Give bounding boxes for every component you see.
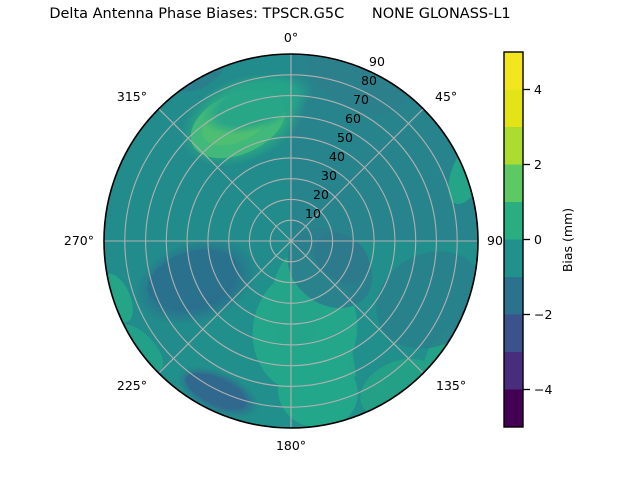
polar-plot: 0° 45° 90 135° 180° 225° 270° 315° 10 20… [0,0,640,480]
colorbar-band-8 [504,90,523,128]
r-label-40: 40 [329,149,345,164]
colorbar-band-5 [504,202,523,240]
colorbar-bands [504,52,523,427]
r-label-20: 20 [313,187,329,202]
r-label-30: 30 [321,168,337,183]
r-label-60: 60 [345,111,361,126]
colorbar-band-6 [504,165,523,203]
theta-label-135: 135° [436,378,466,393]
colorbar-tick-labels: −4 −2 0 2 4 [534,82,552,397]
r-label-70: 70 [353,92,369,107]
theta-label-315: 315° [117,89,147,104]
polar-grid [104,54,478,428]
colorbar-ticklabel-0: 0 [534,232,542,247]
colorbar-band-7 [504,127,523,165]
colorbar-ticks [523,90,530,390]
r-label-80: 80 [361,73,377,88]
colorbar-ticklabel-minus2: −2 [534,307,552,322]
theta-label-90: 90 [487,233,503,248]
colorbar-ticklabel-2: 2 [534,157,542,172]
figure-canvas: Delta Antenna Phase Biases: TPSCR.G5C NO… [0,0,640,480]
colorbar-band-9 [504,52,523,90]
r-label-50: 50 [337,130,353,145]
r-label-90: 90 [369,54,385,69]
colorbar-ticklabel-minus4: −4 [534,382,552,397]
colorbar-band-3 [504,277,523,315]
colorbar-band-4 [504,240,523,278]
colorbar-band-2 [504,315,523,353]
theta-label-0: 0° [284,30,298,45]
theta-label-45: 45° [435,89,457,104]
colorbar-band-1 [504,352,523,390]
colorbar-ticklabel-4: 4 [534,82,542,97]
theta-label-225: 225° [117,378,147,393]
colorbar-axis-title: Bias (mm) [560,208,575,272]
theta-label-180: 180° [276,438,306,453]
colorbar-band-0 [504,390,523,428]
theta-label-270: 270° [64,233,94,248]
colorbar[interactable]: −4 −2 0 2 4 Bias (mm) [504,52,575,427]
r-label-10: 10 [305,206,321,221]
